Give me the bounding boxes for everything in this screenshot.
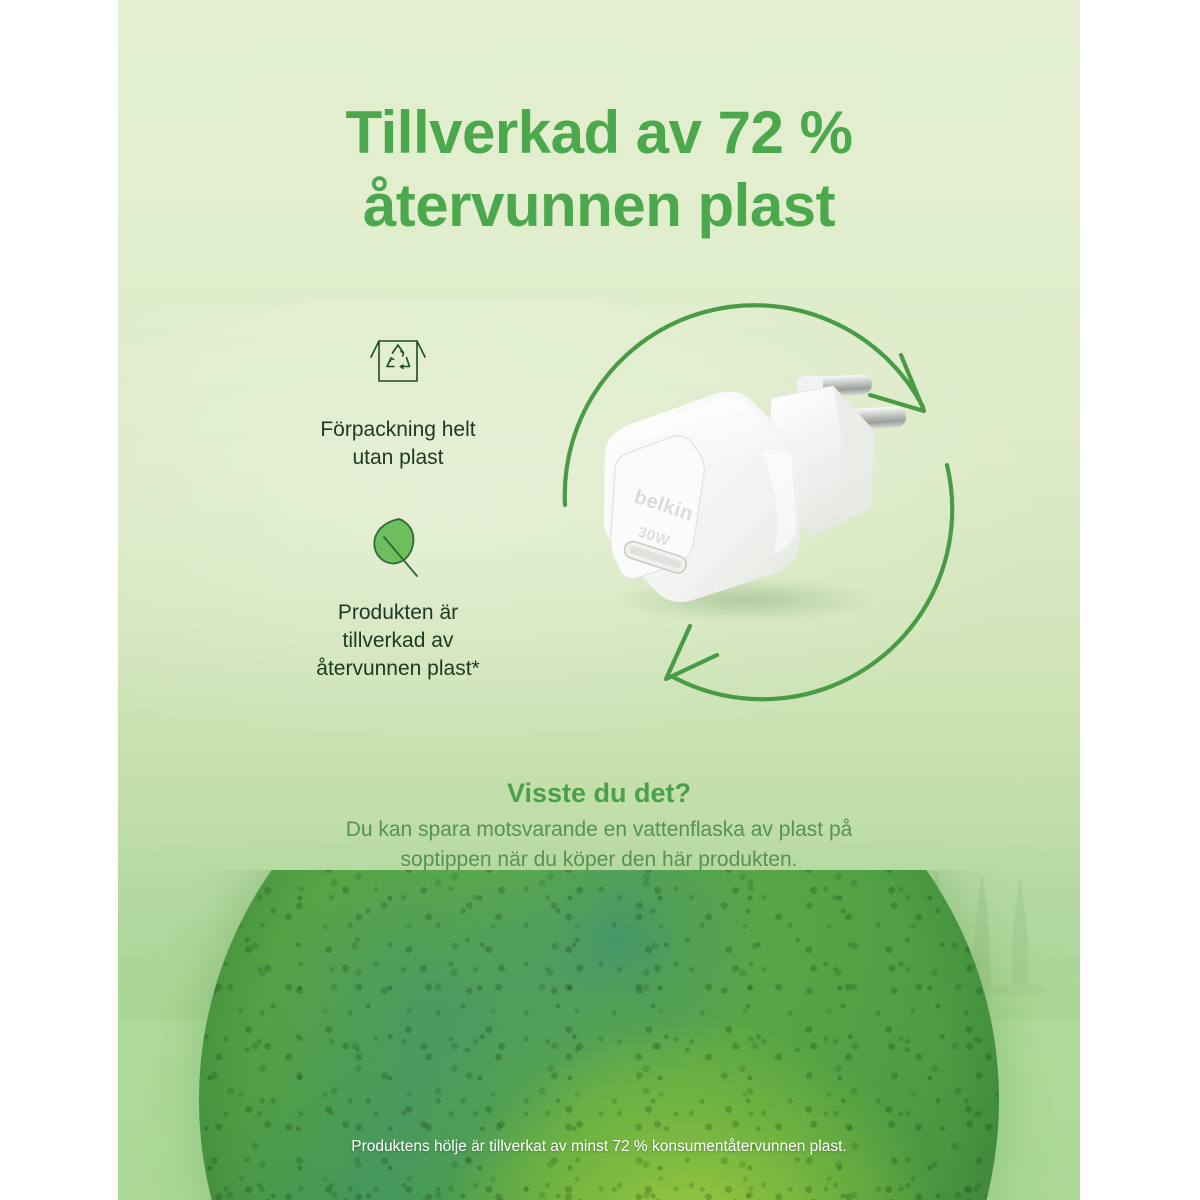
headline-line-1: Tillverkad av 72 %	[346, 99, 853, 166]
disclaimer-text: Produktens hölje är tillverkat av minst …	[118, 1138, 1080, 1156]
feature-recycled-plastic: Produkten är tillverkad av återvunnen pl…	[268, 513, 528, 682]
did-you-know-line-1: Du kan spara motsvarande en vattenflaska…	[346, 818, 853, 841]
feature-plastic-free-packaging: Förpackning helt utan plast	[268, 330, 528, 471]
feature-label-line-2: utan plast	[352, 446, 443, 469]
feature-label-line-3: återvunnen plast*	[316, 657, 479, 680]
product-stage: belkin 30W	[503, 255, 1003, 725]
feature-label-line-2: tillverkad av	[343, 629, 454, 652]
feature-label-line-1: Produkten är	[338, 601, 458, 624]
feature-label: Förpackning helt utan plast	[268, 416, 528, 471]
did-you-know-title: Visste du det?	[118, 775, 1080, 811]
plastic-free-packaging-icon	[268, 330, 528, 404]
leaf-icon	[268, 513, 528, 587]
product-image: belkin 30W	[575, 360, 935, 620]
poster: Tillverkad av 72 % återvunnen plast	[0, 0, 1200, 1200]
feature-label-line-1: Förpackning helt	[320, 418, 475, 441]
page-title: Tillverkad av 72 % återvunnen plast	[118, 96, 1080, 242]
feature-list: Förpackning helt utan plast Produkten är…	[268, 330, 528, 725]
feature-label: Produkten är tillverkad av återvunnen pl…	[268, 599, 528, 682]
green-panel: Tillverkad av 72 % återvunnen plast	[118, 0, 1080, 1200]
headline-line-2: återvunnen plast	[118, 169, 1080, 242]
